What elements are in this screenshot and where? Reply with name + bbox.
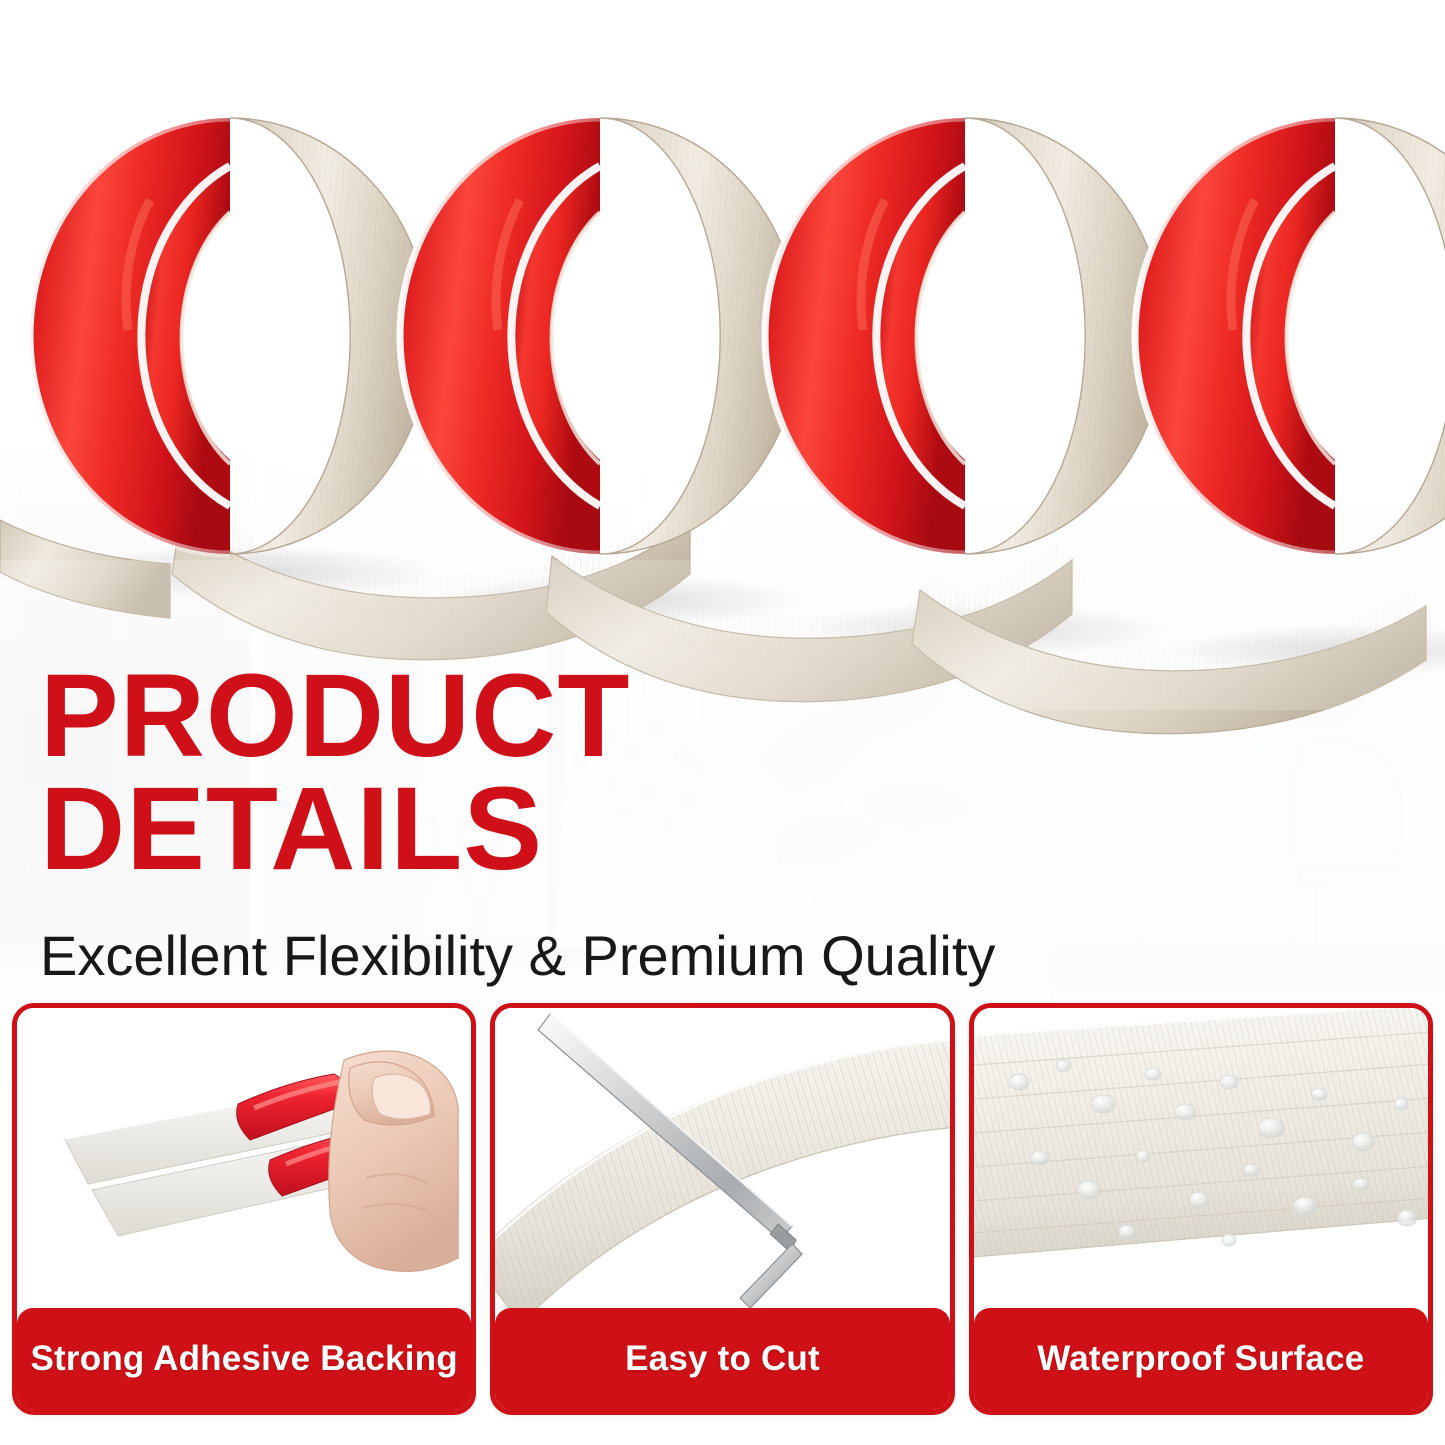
feature-panels: Strong Adhesive Backing: [12, 1003, 1433, 1415]
page-title: PRODUCT DETAILS: [40, 660, 1140, 887]
tape-coil-1: [30, 118, 430, 554]
feature-card-adhesive[interactable]: Strong Adhesive Backing: [12, 1003, 476, 1415]
tape-coil-2: [400, 118, 800, 554]
feature-card-waterproof[interactable]: Waterproof Surface: [969, 1003, 1433, 1415]
feature-caption-cut: Easy to Cut: [495, 1308, 949, 1410]
feature-caption-waterproof: Waterproof Surface: [974, 1308, 1428, 1410]
tape-coil-4: [1135, 118, 1445, 554]
product-detail-canvas: PRODUCT DETAILS Excellent Flexibility & …: [0, 0, 1445, 1445]
page-subtitle: Excellent Flexibility & Premium Quality: [40, 927, 1140, 986]
adhesive-peel-icon: [17, 1008, 471, 1308]
feature-caption-adhesive: Strong Adhesive Backing: [17, 1308, 471, 1410]
headline-block: PRODUCT DETAILS Excellent Flexibility & …: [40, 660, 1140, 985]
feature-card-cut[interactable]: Easy to Cut: [490, 1003, 954, 1415]
scissors-icon: [495, 1008, 949, 1308]
tape-coil-3: [765, 118, 1165, 554]
water-droplets-icon: [974, 1008, 1428, 1308]
